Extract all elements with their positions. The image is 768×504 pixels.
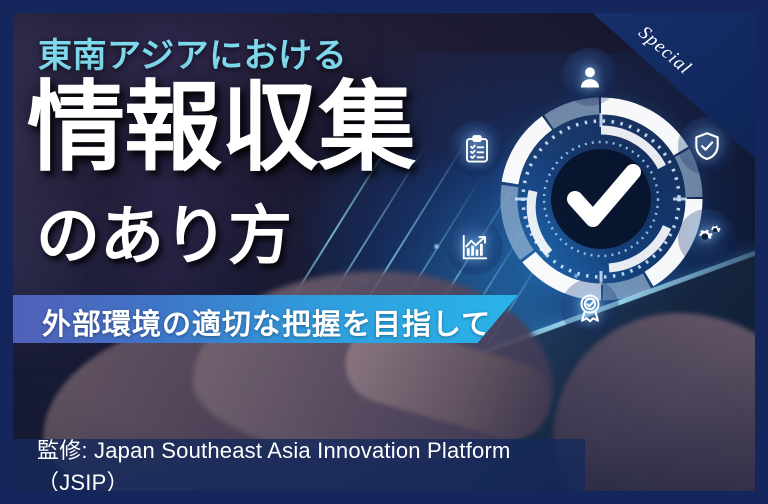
sub-banner: 外部環境の適切な把握を目指して bbox=[13, 295, 518, 343]
clipboard-checklist-icon bbox=[449, 121, 505, 177]
sub-banner-text: 外部環境の適切な把握を目指して bbox=[42, 301, 491, 343]
kicker-text: 東南アジアにおける bbox=[38, 28, 347, 77]
bar-chart-growth-icon bbox=[447, 219, 503, 275]
page-title-tail: のあり方 bbox=[36, 204, 292, 268]
article-hero-banner: 東南アジアにおける 情報収集 のあり方 外部環境の適切な把握を目指して Spec… bbox=[0, 0, 768, 504]
credit-text: 監修: Japan Southeast Asia Innovation Plat… bbox=[13, 433, 585, 497]
credit-band: 監修: Japan Southeast Asia Innovation Plat… bbox=[13, 439, 585, 491]
award-badge-icon bbox=[561, 279, 619, 337]
person-icon bbox=[561, 48, 619, 106]
page-title: 情報収集 bbox=[27, 78, 415, 176]
gears-icon bbox=[678, 209, 736, 267]
check-circle-hud-icon bbox=[489, 87, 713, 311]
